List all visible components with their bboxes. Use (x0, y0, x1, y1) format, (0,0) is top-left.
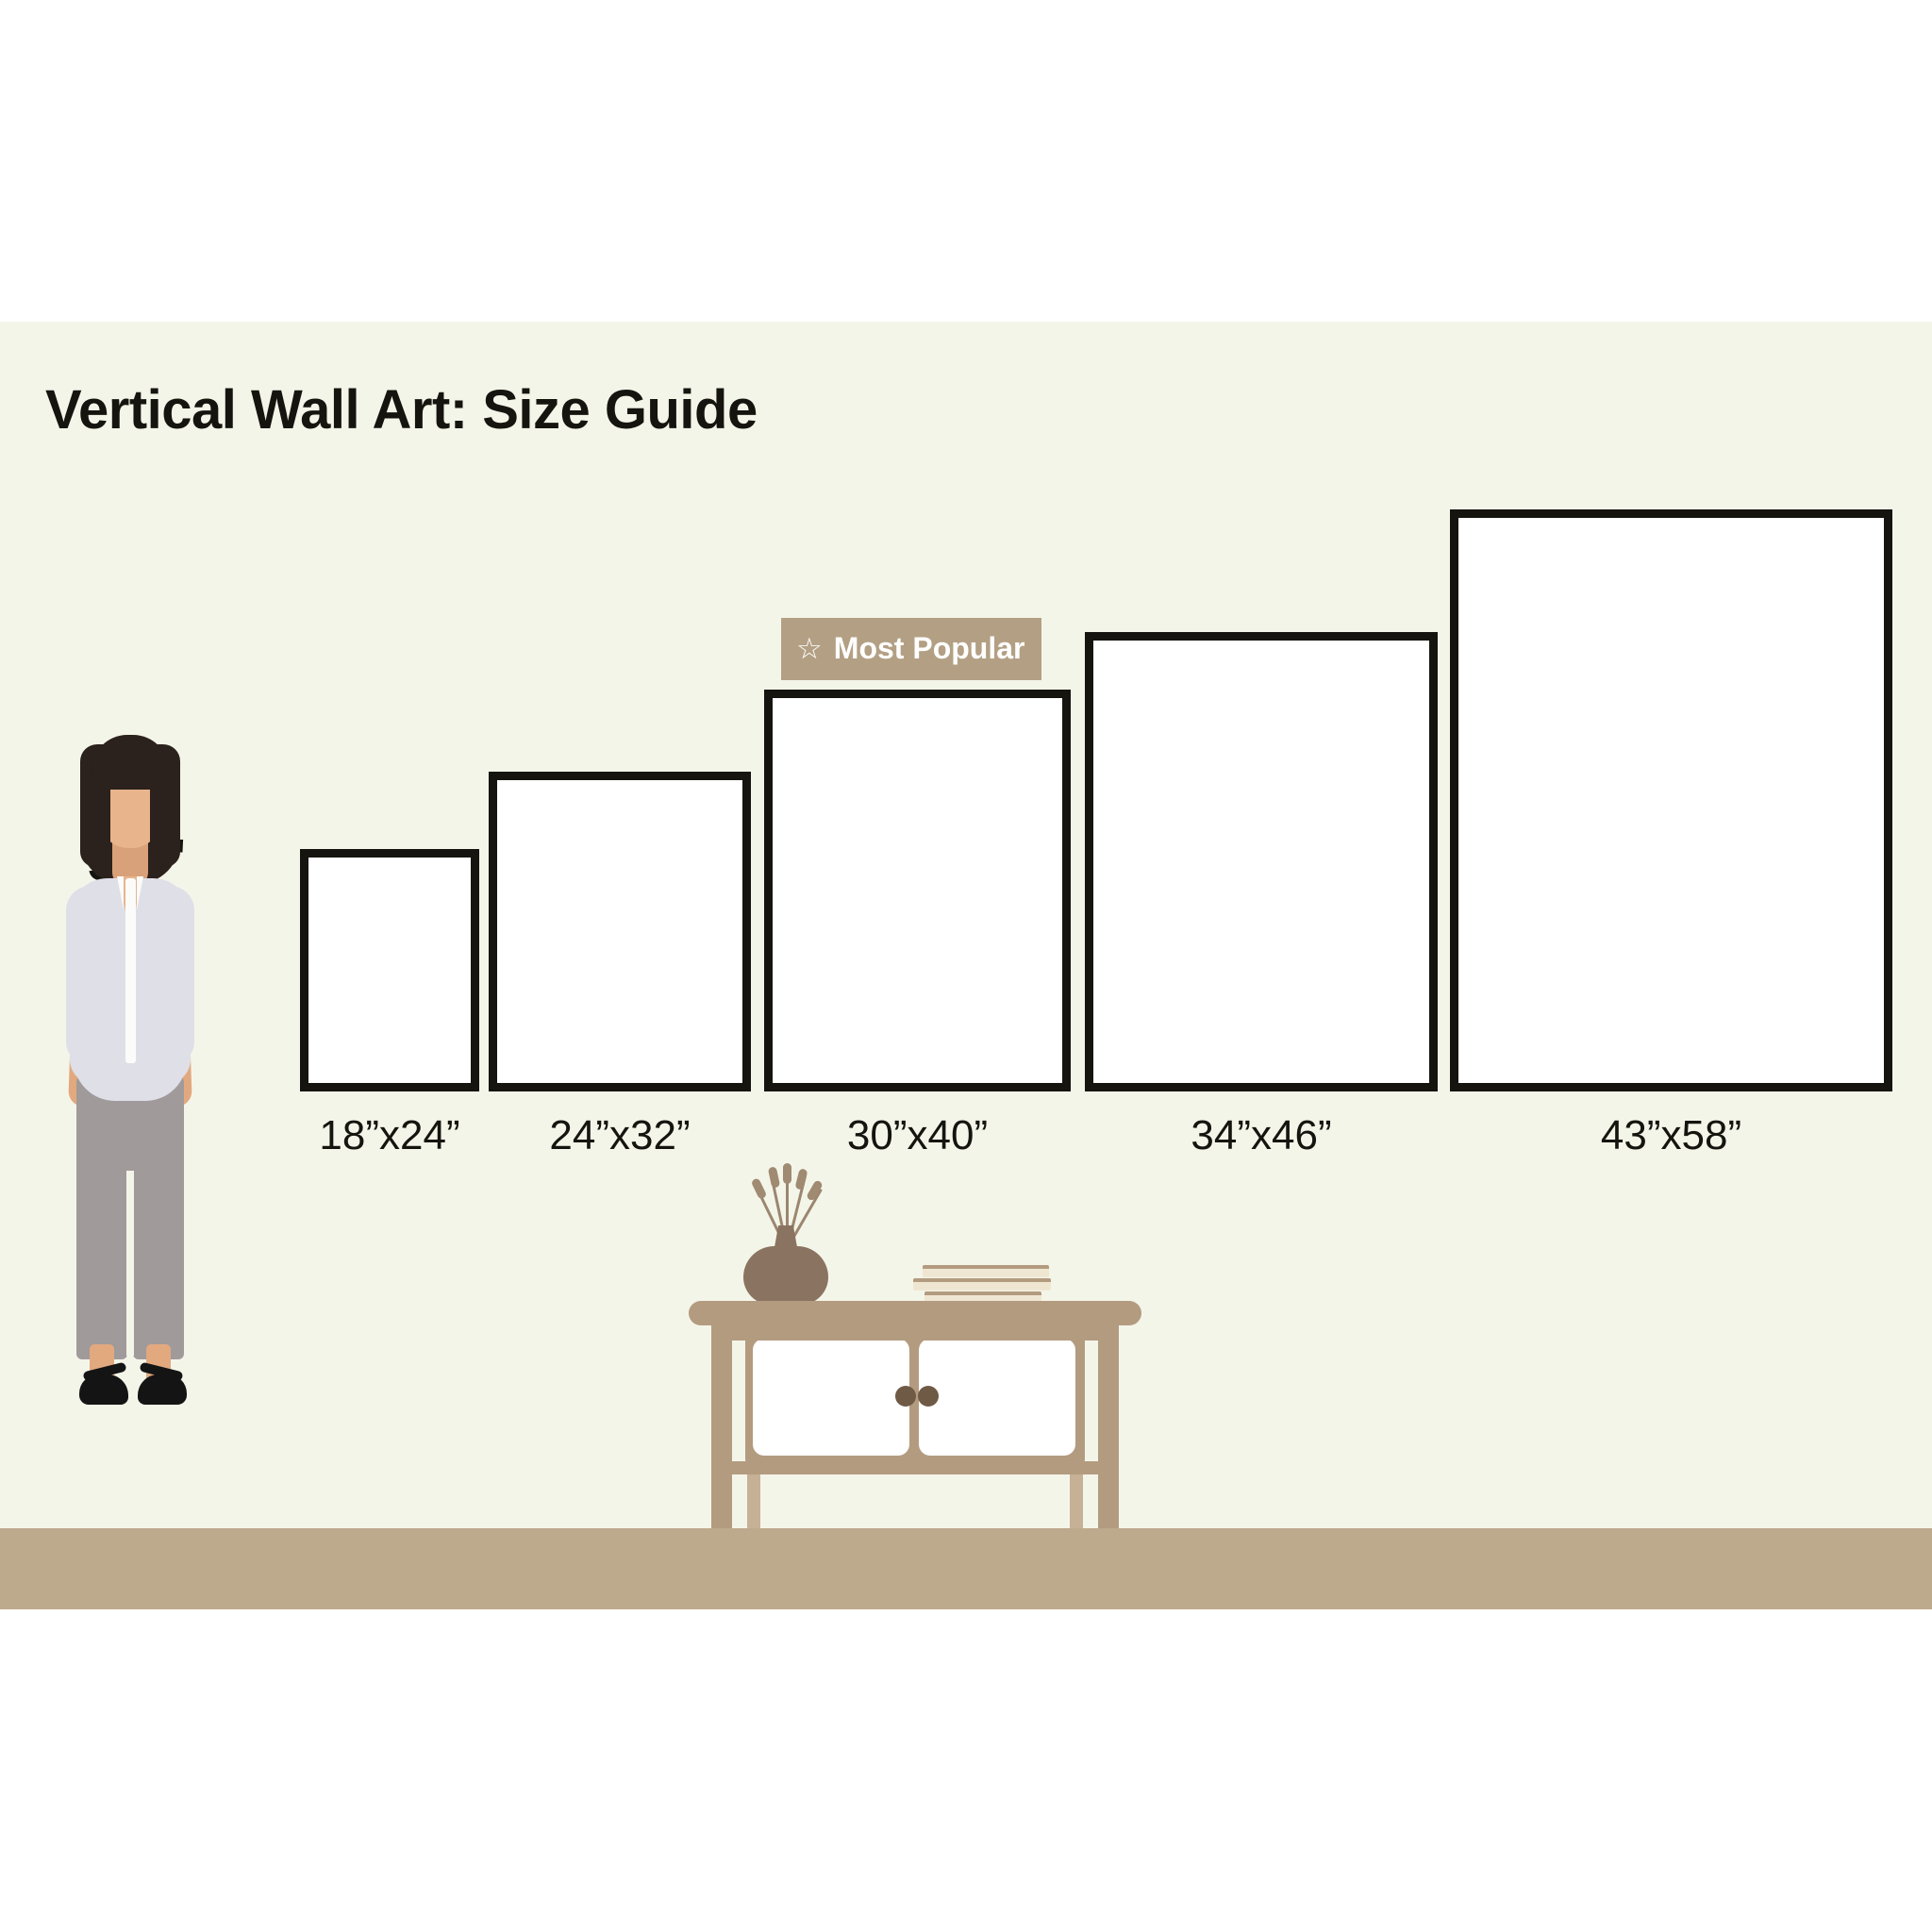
star-outline-icon: ☆ (796, 634, 823, 663)
vase-body (743, 1246, 828, 1305)
reference-person-figure (45, 727, 215, 1528)
cabinet-door-right[interactable] (919, 1339, 1075, 1456)
art-frame-3[interactable] (764, 690, 1071, 1091)
art-frame-1-label: 18”x24” (300, 1112, 479, 1159)
art-frame-5-label: 43”x58” (1450, 1112, 1892, 1159)
table-leg-front-left (711, 1324, 732, 1528)
book-stack (913, 1265, 1053, 1305)
floor-strip (0, 1528, 1932, 1609)
table-top (689, 1301, 1141, 1325)
art-frame-1[interactable] (300, 849, 479, 1091)
table-apron (711, 1324, 1119, 1341)
table-leg-front-right (1098, 1324, 1119, 1528)
book-1 (923, 1265, 1049, 1277)
pod-2 (768, 1166, 780, 1188)
pod-3 (783, 1163, 791, 1184)
hair-top (92, 735, 169, 790)
page-title: Vertical Wall Art: Size Guide (45, 378, 758, 441)
art-frame-4-label: 34”x46” (1085, 1112, 1438, 1159)
art-frame-2[interactable] (489, 772, 751, 1091)
art-frame-5[interactable] (1450, 509, 1892, 1091)
art-frame-3-label: 30”x40” (764, 1112, 1071, 1159)
pod-4 (794, 1168, 808, 1191)
art-frame-4[interactable] (1085, 632, 1438, 1091)
trouser-leg-gap (126, 1171, 134, 1356)
art-frame-2-label: 24”x32” (489, 1112, 751, 1159)
pod-1 (751, 1177, 768, 1200)
cabinet-door-left[interactable] (753, 1339, 909, 1456)
cabinet-knob-right[interactable] (918, 1386, 939, 1407)
most-popular-badge-label: Most Popular (834, 631, 1025, 666)
book-2 (913, 1278, 1051, 1291)
vase (743, 1225, 828, 1305)
most-popular-badge[interactable]: ☆ Most Popular (781, 618, 1041, 680)
size-guide-scene: Vertical Wall Art: Size Guide 5’4" 18”x2… (0, 322, 1932, 1609)
cabinet-knob-left[interactable] (895, 1386, 916, 1407)
console-table (689, 1208, 1141, 1528)
